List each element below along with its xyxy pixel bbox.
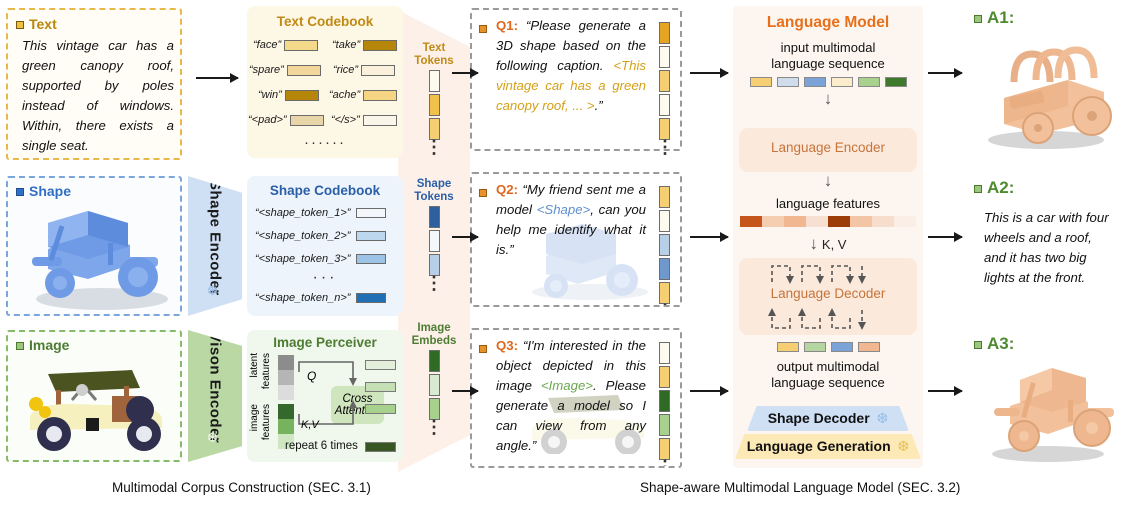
- text-codebook-entry: “face”: [253, 39, 318, 51]
- shape-encoder-label: Shape Encoder: [207, 180, 224, 296]
- shape-input-header: Shape: [16, 183, 71, 201]
- text-tokens-label-b: Tokens: [404, 55, 464, 68]
- q2-token-strip: ⋮: [656, 184, 672, 307]
- image-input-header: Image: [16, 337, 69, 355]
- arrow-to-encoder: ↓: [733, 92, 923, 106]
- language-model-title: Language Model: [733, 14, 923, 32]
- kv-arrow-icon: ↓: [810, 234, 819, 253]
- q1-text: Q1: “Please generate a 3D shape based on…: [496, 16, 646, 116]
- perceiver-output-swatch: [365, 404, 396, 414]
- codebook-token-label: “ache”: [329, 89, 360, 101]
- q2-bullet-icon: [479, 184, 492, 202]
- output-sequence-chips: [733, 342, 923, 352]
- feature-chip: [872, 216, 894, 227]
- text-input-box: Text This vintage car has a green canopy…: [6, 8, 182, 160]
- a2-header: A2:: [974, 178, 1014, 198]
- question-box-q1: Q1: “Please generate a 3D shape based on…: [470, 8, 682, 151]
- image-label: Image: [29, 337, 69, 353]
- feature-chip: [894, 216, 916, 227]
- shape-tokens-label-a: Shape: [404, 178, 464, 191]
- a2-text: This is a car with four wheels and a roo…: [984, 208, 1116, 288]
- codebook-token-label: “<shape_token_n>”: [255, 292, 350, 304]
- shape-tokens-vdots: ⋮: [404, 278, 464, 288]
- q3-label: Q3:: [496, 338, 518, 353]
- codebook-swatch: [356, 208, 386, 218]
- q1-input-arrow: [452, 72, 478, 74]
- codebook-token-label: “rice”: [333, 64, 358, 76]
- input-sequence-line1: input multimodal: [733, 40, 923, 56]
- q2-token-vdots: ⋮: [656, 306, 672, 307]
- feature-chip: [806, 216, 828, 227]
- q3-token-chip: [659, 366, 670, 388]
- lm-to-a2-arrow: [928, 236, 962, 238]
- question-box-q2: Q2: “My friend sent me a model <Shape>, …: [470, 172, 682, 307]
- codebook-swatch: [290, 115, 324, 126]
- feature-chip: [784, 216, 806, 227]
- image-input-box: Image: [6, 330, 182, 462]
- image-embeds-label-b: Embeds: [404, 335, 464, 348]
- language-generation-snowflake-icon: ❆: [898, 438, 910, 454]
- image-car-photo: [12, 356, 180, 460]
- image-embed-chip: [429, 350, 440, 372]
- image-embeds-label-a: Image: [404, 322, 464, 335]
- q2-token-chip: [659, 210, 670, 232]
- perceiver-output-swatch: [365, 442, 396, 452]
- q1-token-vdots: ⋮: [656, 142, 672, 152]
- text-tokens-label-a: Text: [404, 42, 464, 55]
- input-sequence-chips: [733, 77, 923, 87]
- a3-header: A3:: [974, 334, 1014, 354]
- shape-decoder-bar: Shape Decoder ❆: [747, 406, 909, 431]
- q1-token-chip: [659, 94, 670, 116]
- shape-codebook-entry: “<shape_token_1>”: [255, 207, 386, 219]
- kv-arrow-row: ↓ K, V: [733, 234, 923, 254]
- language-decoder-box: Language Decoder: [739, 258, 917, 335]
- q3-token-chip: [659, 390, 670, 412]
- q1-bullet-icon: [479, 20, 492, 38]
- a3-label: A3:: [987, 334, 1014, 353]
- shape-encoder-snowflake-icon: ❆: [207, 283, 218, 299]
- a1-label: A1:: [987, 8, 1014, 27]
- kv-label: K,V: [301, 419, 319, 431]
- text-codebook-title: Text Codebook: [247, 14, 403, 29]
- image-perceiver-title: Image Perceiver: [247, 335, 403, 350]
- codebook-swatch: [356, 231, 386, 241]
- left-section-caption: Multimodal Corpus Construction (SEC. 3.1…: [112, 480, 371, 495]
- arrow-to-features: ↓: [733, 174, 923, 188]
- codebook-token-label: “win”: [258, 89, 282, 101]
- input-seq-chip: [831, 77, 853, 87]
- shape-label: Shape: [29, 183, 71, 199]
- input-seq-chip: [858, 77, 880, 87]
- text-tokens-column: Text Tokens ⋮: [404, 42, 464, 152]
- q2-token-chip: [659, 234, 670, 256]
- output-seq-chip: [858, 342, 880, 352]
- q1-token-strip: ⋮: [656, 20, 672, 152]
- codebook-token-label: “<shape_token_2>”: [255, 230, 350, 242]
- q1-post: .”: [595, 98, 603, 113]
- text-codebook-entry: “win”: [258, 89, 319, 101]
- shape-codebook-title: Shape Codebook: [247, 183, 403, 198]
- shape-tokens-label-b: Tokens: [404, 191, 464, 204]
- q2-input-arrow: [452, 236, 478, 238]
- answer-a2: A2: This is a car with four wheels and a…: [972, 178, 1120, 328]
- output-seq-chip: [777, 342, 799, 352]
- perceiver-output-swatch: [365, 382, 396, 392]
- q2-token-chip: [659, 186, 670, 208]
- answer-a1: A1:: [972, 6, 1120, 166]
- codebook-swatch: [356, 254, 386, 264]
- question-box-q3: Q3: “I'm interested in the object depict…: [470, 328, 682, 468]
- shape-input-box: Shape: [6, 176, 182, 316]
- shape-bullet-icon: [16, 188, 24, 196]
- shape-codebook-entry: “<shape_token_n>”: [255, 292, 386, 304]
- codebook-swatch: [356, 293, 386, 303]
- q3-to-lm-arrow: [690, 390, 728, 392]
- q3-token-chip: [659, 342, 670, 364]
- output-seq-chip: [831, 342, 853, 352]
- shape-decoder-label: Shape Decoder: [768, 410, 870, 426]
- shape-token-chip: [429, 230, 440, 252]
- shape-codebook-entry: “<shape_token_3>”: [255, 253, 386, 265]
- language-generation-bar: Language Generation ❆: [735, 434, 921, 459]
- codebook-swatch: [285, 90, 319, 101]
- feature-chip: [828, 216, 850, 227]
- text-codebook-entry: “take”: [332, 39, 397, 51]
- codebook-swatch: [363, 90, 397, 101]
- codebook-swatch: [284, 40, 318, 51]
- q1-token-chip: [659, 46, 670, 68]
- language-model-panel: Language Model input multimodal language…: [733, 6, 923, 468]
- language-generation-label: Language Generation: [747, 438, 891, 454]
- shape-3d-car-render: [10, 203, 182, 315]
- language-encoder-label: Language Encoder: [739, 140, 917, 155]
- text-to-codebook-arrow: [196, 77, 238, 79]
- feature-chip: [740, 216, 762, 227]
- output-sequence-line2: language sequence: [733, 375, 923, 391]
- image-embeds-vdots: ⋮: [404, 422, 464, 432]
- q3-token-chip: [659, 414, 670, 436]
- language-decoder-label: Language Decoder: [739, 286, 917, 301]
- shape-codebook-ellipsis: ···: [247, 269, 403, 287]
- a2-label: A2:: [987, 178, 1014, 197]
- codebook-token-label: “<shape_token_1>”: [255, 207, 350, 219]
- input-seq-chip: [885, 77, 907, 87]
- input-seq-chip: [804, 77, 826, 87]
- kv-label-lm: K, V: [822, 237, 847, 252]
- codebook-token-label: “</s>”: [331, 114, 360, 126]
- input-seq-chip: [750, 77, 772, 87]
- language-features-chips: [733, 216, 923, 227]
- q2-highlight: <Shape>: [537, 202, 591, 217]
- text-token-chip: [429, 70, 440, 92]
- text-bullet-icon: [16, 21, 24, 29]
- output-seq-chip: [804, 342, 826, 352]
- image-embed-chip: [429, 374, 440, 396]
- text-codebook-panel: Text Codebook “face” “take” “spare” “ric…: [247, 6, 403, 158]
- codebook-token-label: “face”: [253, 39, 281, 51]
- q3-highlight: <Image>: [541, 378, 593, 393]
- q1-to-lm-arrow: [690, 72, 728, 74]
- text-codebook-ellipsis: ······: [247, 134, 403, 151]
- lm-to-a3-arrow: [928, 390, 962, 392]
- codebook-swatch: [287, 65, 321, 76]
- text-codebook-entry: “</s>”: [331, 114, 397, 126]
- text-codebook-entry: “<pad>”: [248, 114, 324, 126]
- q3-input-arrow: [452, 390, 478, 392]
- text-label: Text: [29, 16, 57, 32]
- answer-a3: A3:: [972, 334, 1120, 474]
- a3-generated-shape: [976, 358, 1118, 468]
- text-codebook-entry: “spare”: [249, 64, 321, 76]
- right-section-caption: Shape-aware Multimodal Language Model (S…: [640, 480, 960, 495]
- output-sequence-line1: output multimodal: [733, 359, 923, 375]
- q3-token-strip: ⋮: [656, 340, 672, 468]
- shape-codebook-panel: Shape Codebook “<shape_token_1>” “<shape…: [247, 176, 403, 316]
- vision-encoder-label: Vison Encoder: [207, 332, 224, 443]
- shape-codebook-entry: “<shape_token_2>”: [255, 230, 386, 242]
- q-label: Q: [307, 369, 316, 383]
- q3-text: Q3: “I'm interested in the object depict…: [496, 336, 646, 456]
- image-bullet-icon: [16, 342, 24, 350]
- codebook-token-label: “take”: [332, 39, 360, 51]
- feature-chip: [762, 216, 784, 227]
- latent-feature-blocks: [278, 355, 294, 400]
- latent-features-label: latent features: [249, 353, 275, 399]
- text-codebook-entry: “ache”: [329, 89, 397, 101]
- a3-bullet-icon: [974, 341, 982, 349]
- feature-chip: [850, 216, 872, 227]
- codebook-swatch: [363, 115, 397, 126]
- shape-decoder-snowflake-icon: ❆: [877, 410, 889, 426]
- a2-bullet-icon: [974, 185, 982, 193]
- q2-text: Q2: “My friend sent me a model <Shape>, …: [496, 180, 646, 260]
- codebook-swatch: [361, 65, 395, 76]
- language-features-label: language features: [733, 196, 923, 212]
- repeat-label: repeat 6 times: [285, 440, 358, 452]
- perceiver-output-swatch: [365, 360, 396, 370]
- q2-to-lm-arrow: [690, 236, 728, 238]
- text-tokens-vdots: ⋮: [404, 142, 464, 152]
- a1-bullet-icon: [974, 15, 982, 23]
- q1-token-chip: [659, 22, 670, 44]
- a1-header: A1:: [974, 8, 1014, 28]
- q1-label: Q1:: [496, 18, 518, 33]
- shape-tokens-column: Shape Tokens ⋮: [404, 178, 464, 288]
- text-token-chip: [429, 94, 440, 116]
- text-input-header: Text: [16, 16, 57, 34]
- decoder-bottom-arrows: [768, 308, 888, 332]
- language-encoder-box: Language Encoder: [739, 128, 917, 172]
- q2-token-chip: [659, 258, 670, 280]
- text-codebook-entry: “rice”: [333, 64, 395, 76]
- q2-label: Q2:: [496, 182, 518, 197]
- codebook-token-label: “<pad>”: [248, 114, 287, 126]
- image-perceiver-panel: Image Perceiver latent features image fe…: [247, 330, 403, 462]
- image-embeds-column: Image Embeds ⋮: [404, 322, 464, 432]
- decoder-top-arrows: [768, 262, 888, 286]
- input-seq-chip: [777, 77, 799, 87]
- q1-token-chip: [659, 70, 670, 92]
- q3-token-vdots: ⋮: [656, 462, 672, 468]
- codebook-token-label: “spare”: [249, 64, 284, 76]
- image-features-label: image features: [249, 404, 275, 452]
- shape-token-chip: [429, 206, 440, 228]
- a1-generated-shape: [976, 36, 1118, 156]
- lm-to-a1-arrow: [928, 72, 962, 74]
- vision-encoder-snowflake-icon: ❆: [207, 430, 218, 446]
- codebook-token-label: “<shape_token_3>”: [255, 253, 350, 265]
- text-caption: This vintage car has a green canopy roof…: [22, 36, 174, 156]
- q3-bullet-icon: [479, 340, 492, 358]
- input-sequence-line2: language sequence: [733, 56, 923, 72]
- codebook-swatch: [363, 40, 397, 51]
